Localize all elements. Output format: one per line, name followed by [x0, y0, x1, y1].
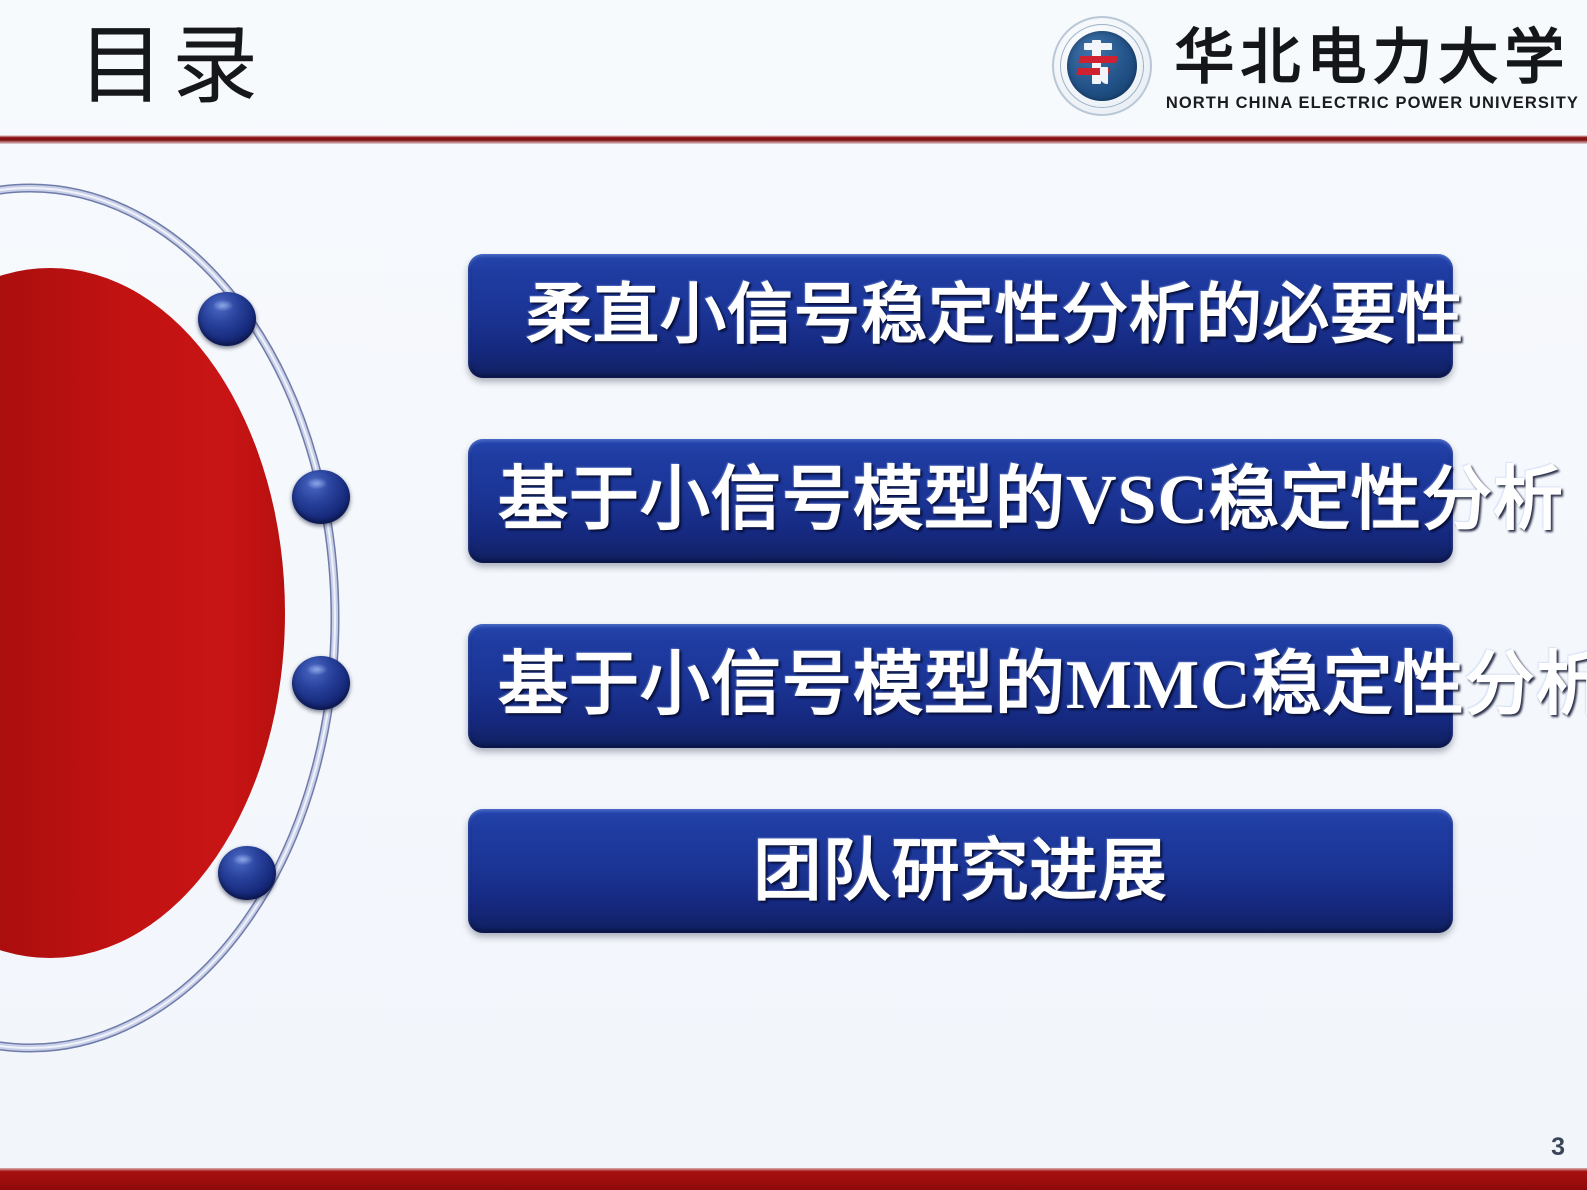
- orbit-ring-band: [0, 188, 335, 1048]
- logo-name-en: NORTH CHINA ELECTRIC POWER UNIVERSITY: [1166, 93, 1579, 113]
- footer-bar: [0, 1168, 1587, 1190]
- page-title: 目录: [78, 14, 266, 118]
- seal-mark-stroke: [1084, 43, 1112, 50]
- agenda-item-label: 基于小信号模型的MMC稳定性分析: [468, 651, 1483, 721]
- logo-name-cn: 华北电力大学: [1174, 24, 1570, 92]
- list-bullet-dot: [292, 656, 350, 710]
- orbit-ring-highlight: [0, 188, 335, 1048]
- list-bullet-dot: [198, 292, 256, 346]
- seal-mark-stroke-red: [1078, 56, 1117, 63]
- slide-canvas: 目录 华北电力大学 NORTH CHINA ELECTRIC POWER UNI…: [0, 0, 1587, 1190]
- agenda-item-label: 基于小信号模型的VSC稳定性分析: [468, 466, 1483, 536]
- slide-header: 目录 华北电力大学 NORTH CHINA ELECTRIC POWER UNI…: [0, 0, 1587, 140]
- agenda-item-label: 柔直小信号稳定性分析的必要性: [468, 283, 1464, 349]
- seal-disc: [1067, 31, 1137, 101]
- orbit-ring-arc: [0, 168, 350, 1068]
- agenda-item-1[interactable]: 柔直小信号稳定性分析的必要性: [468, 254, 1453, 378]
- university-logo: 华北电力大学 NORTH CHINA ELECTRIC POWER UNIVER…: [1048, 4, 1579, 132]
- agenda-item-3[interactable]: 基于小信号模型的MMC稳定性分析: [468, 624, 1453, 748]
- agenda-list: 柔直小信号稳定性分析的必要性 基于小信号模型的VSC稳定性分析 基于小信号模型的…: [468, 254, 1453, 994]
- agenda-item-2[interactable]: 基于小信号模型的VSC稳定性分析: [468, 439, 1453, 563]
- orbit-ring-outline: [0, 188, 335, 1048]
- page-number: 3: [1551, 1133, 1565, 1162]
- list-bullet-dot: [218, 846, 276, 900]
- ncepu-seal-emblem-icon: [1048, 12, 1160, 124]
- agenda-item-4[interactable]: 团队研究进展: [468, 809, 1453, 933]
- agenda-item-label: 团队研究进展: [468, 837, 1453, 905]
- list-bullet-dot: [292, 470, 350, 524]
- seal-mark-hook: [1100, 67, 1108, 84]
- decorative-graphic: [0, 140, 430, 1170]
- logo-wordmark: 华北电力大学 NORTH CHINA ELECTRIC POWER UNIVER…: [1166, 24, 1579, 113]
